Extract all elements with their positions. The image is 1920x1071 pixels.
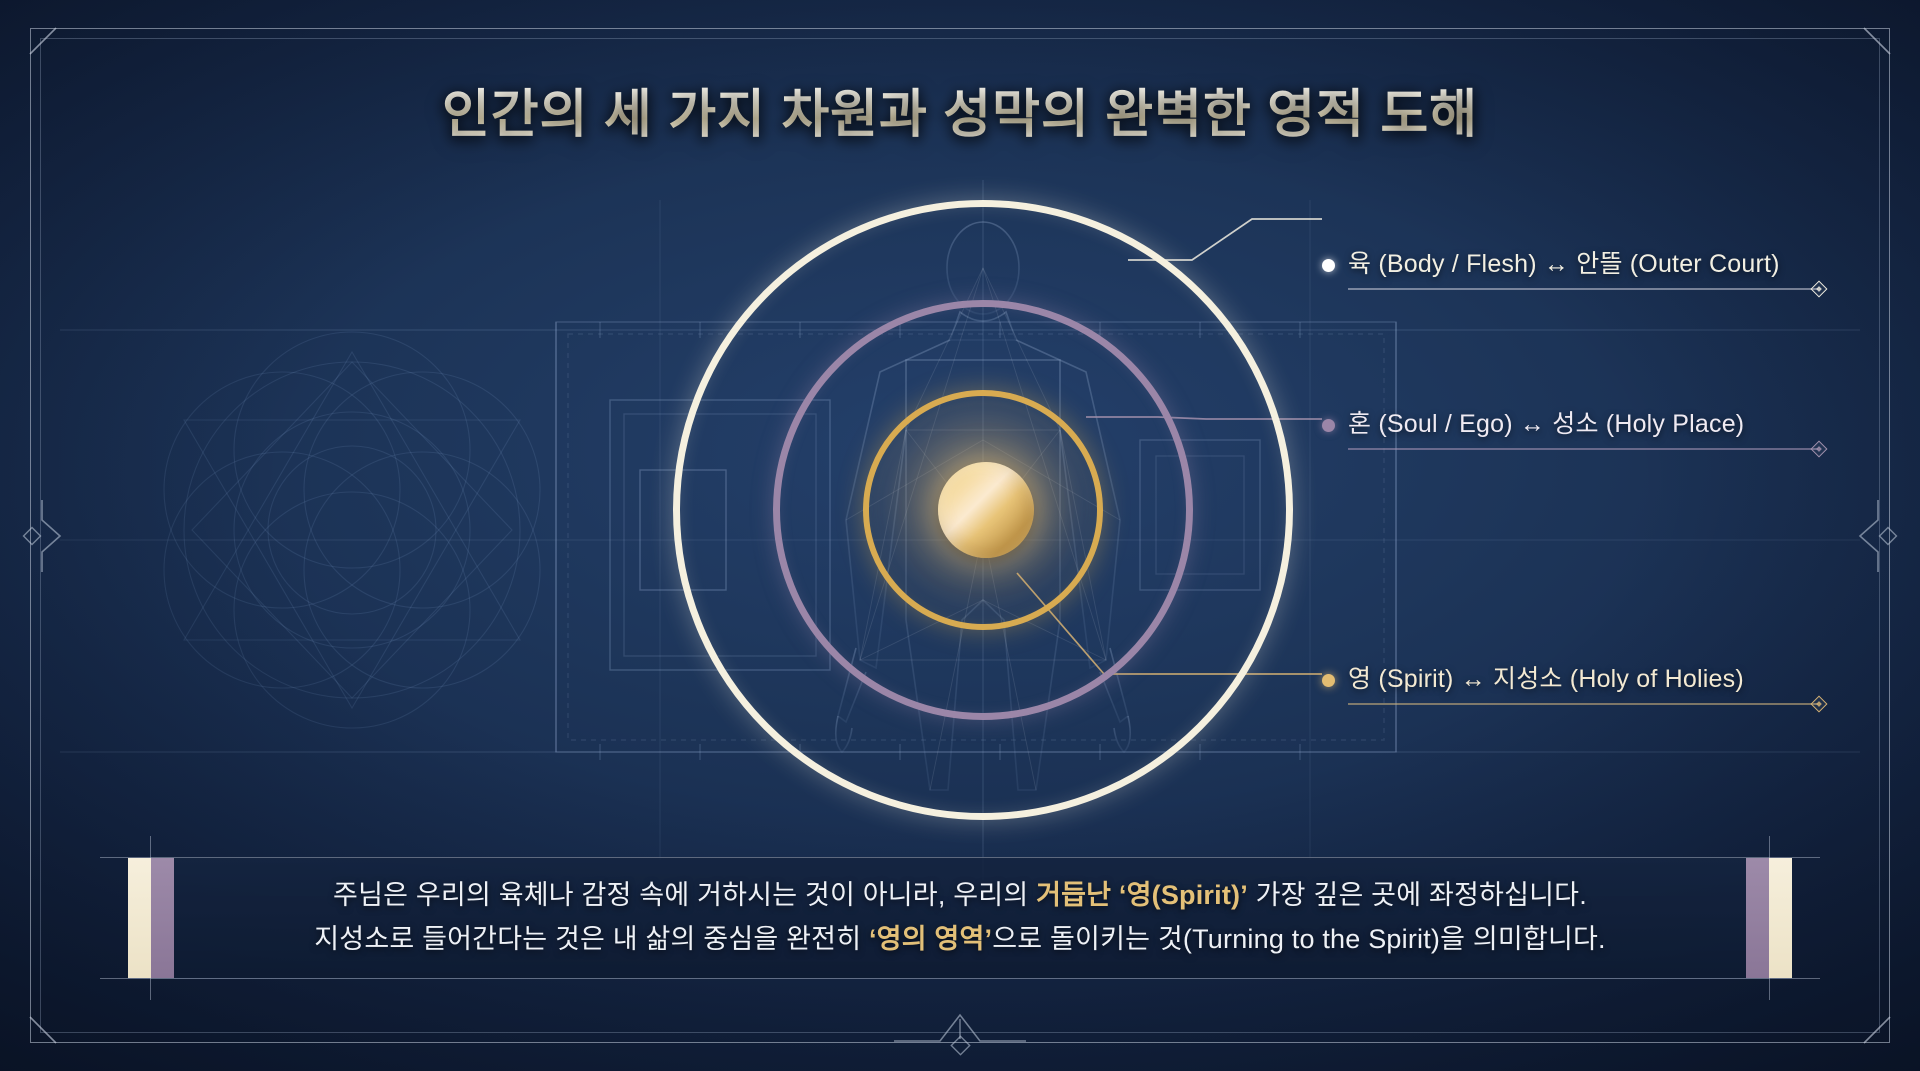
caption-text-block: 주님은 우리의 육체나 감정 속에 거하시는 것이 아니라, 우리의 거듭난 ‘… xyxy=(314,874,1606,961)
caption-tick-vl xyxy=(150,836,151,858)
caption-line-2-highlight: ‘영의 영역’ xyxy=(869,924,992,954)
caption-bar-cream-right xyxy=(1769,858,1792,978)
legend-diamond-soul-icon xyxy=(1811,440,1828,457)
edge-ornament-bottom xyxy=(892,1001,1028,1067)
caption-line-1-highlight: 거듭난 ‘영(Spirit)’ xyxy=(1036,880,1248,910)
caption-tick-vr xyxy=(1769,836,1770,858)
corner-ornament-top-right xyxy=(1842,20,1898,76)
corner-ornament-top-left xyxy=(22,20,78,76)
caption-tick-tl xyxy=(100,857,128,858)
caption-line-1-pre: 주님은 우리의 육체나 감정 속에 거하시는 것이 아니라, 우리의 xyxy=(333,880,1036,910)
caption-line-1: 주님은 우리의 육체나 감정 속에 거하시는 것이 아니라, 우리의 거듭난 ‘… xyxy=(314,874,1606,918)
edge-ornament-left xyxy=(8,498,68,574)
caption-bar-purple-left xyxy=(151,858,174,978)
legend-label-body: 육 (Body / Flesh) ↔ 안뜰 (Outer Court) xyxy=(1348,244,1780,280)
slide-stage: 인간의 세 가지 차원과 성막의 완벽한 영적 도해 육 (Body / Fle… xyxy=(0,0,1920,1071)
caption-line-1-post: 가장 깊은 곳에 좌정하십니다. xyxy=(1248,880,1587,910)
page-title: 인간의 세 가지 차원과 성막의 완벽한 영적 도해 xyxy=(442,72,1478,147)
caption-bar-cream-left xyxy=(128,858,151,978)
edge-ornament-right xyxy=(1852,498,1912,574)
legend-label-spirit: 영 (Spirit) ↔ 지성소 (Holy of Holies) xyxy=(1348,659,1744,695)
legend-label-soul: 혼 (Soul / Ego) ↔ 성소 (Holy Place) xyxy=(1348,404,1744,440)
legend-dot-spirit-icon xyxy=(1322,674,1335,687)
caption-line-2-pre: 지성소로 들어간다는 것은 내 삶의 중심을 완전히 xyxy=(314,924,869,954)
caption-tick-bl xyxy=(100,978,128,979)
legend-dot-body-icon xyxy=(1322,259,1335,272)
title-container: 인간의 세 가지 차원과 성막의 완벽한 영적 도해 xyxy=(0,72,1920,147)
corner-ornament-bottom-right xyxy=(1842,995,1898,1051)
legend-diamond-body-icon xyxy=(1811,280,1828,297)
legend-rule-soul xyxy=(1348,448,1818,450)
caption-line-2: 지성소로 들어간다는 것은 내 삶의 중심을 완전히 ‘영의 영역’으로 돌이키… xyxy=(314,918,1606,962)
sacred-geometry-art xyxy=(164,332,540,728)
caption-bars-right xyxy=(1746,858,1792,978)
corner-ornament-bottom-left xyxy=(22,995,78,1051)
caption-bars-left xyxy=(128,858,174,978)
spirit-core-sphere xyxy=(938,462,1034,558)
caption-tick-vr2 xyxy=(1769,978,1770,1000)
caption-line-2-post: 으로 돌이키는 것(Turning to the Spirit)을 의미합니다. xyxy=(992,924,1606,954)
caption-bar-purple-right xyxy=(1746,858,1769,978)
three-dimensions-diagram xyxy=(673,200,1293,820)
caption-tick-br xyxy=(1792,978,1820,979)
legend-rule-spirit xyxy=(1348,703,1818,705)
legend-dot-soul-icon xyxy=(1322,419,1335,432)
caption-panel: 주님은 우리의 육체나 감정 속에 거하시는 것이 아니라, 우리의 거듭난 ‘… xyxy=(128,857,1792,979)
legend-rule-body xyxy=(1348,288,1818,290)
caption-tick-tr xyxy=(1792,857,1820,858)
legend-diamond-spirit-icon xyxy=(1811,695,1828,712)
caption-tick-vl2 xyxy=(150,978,151,1000)
